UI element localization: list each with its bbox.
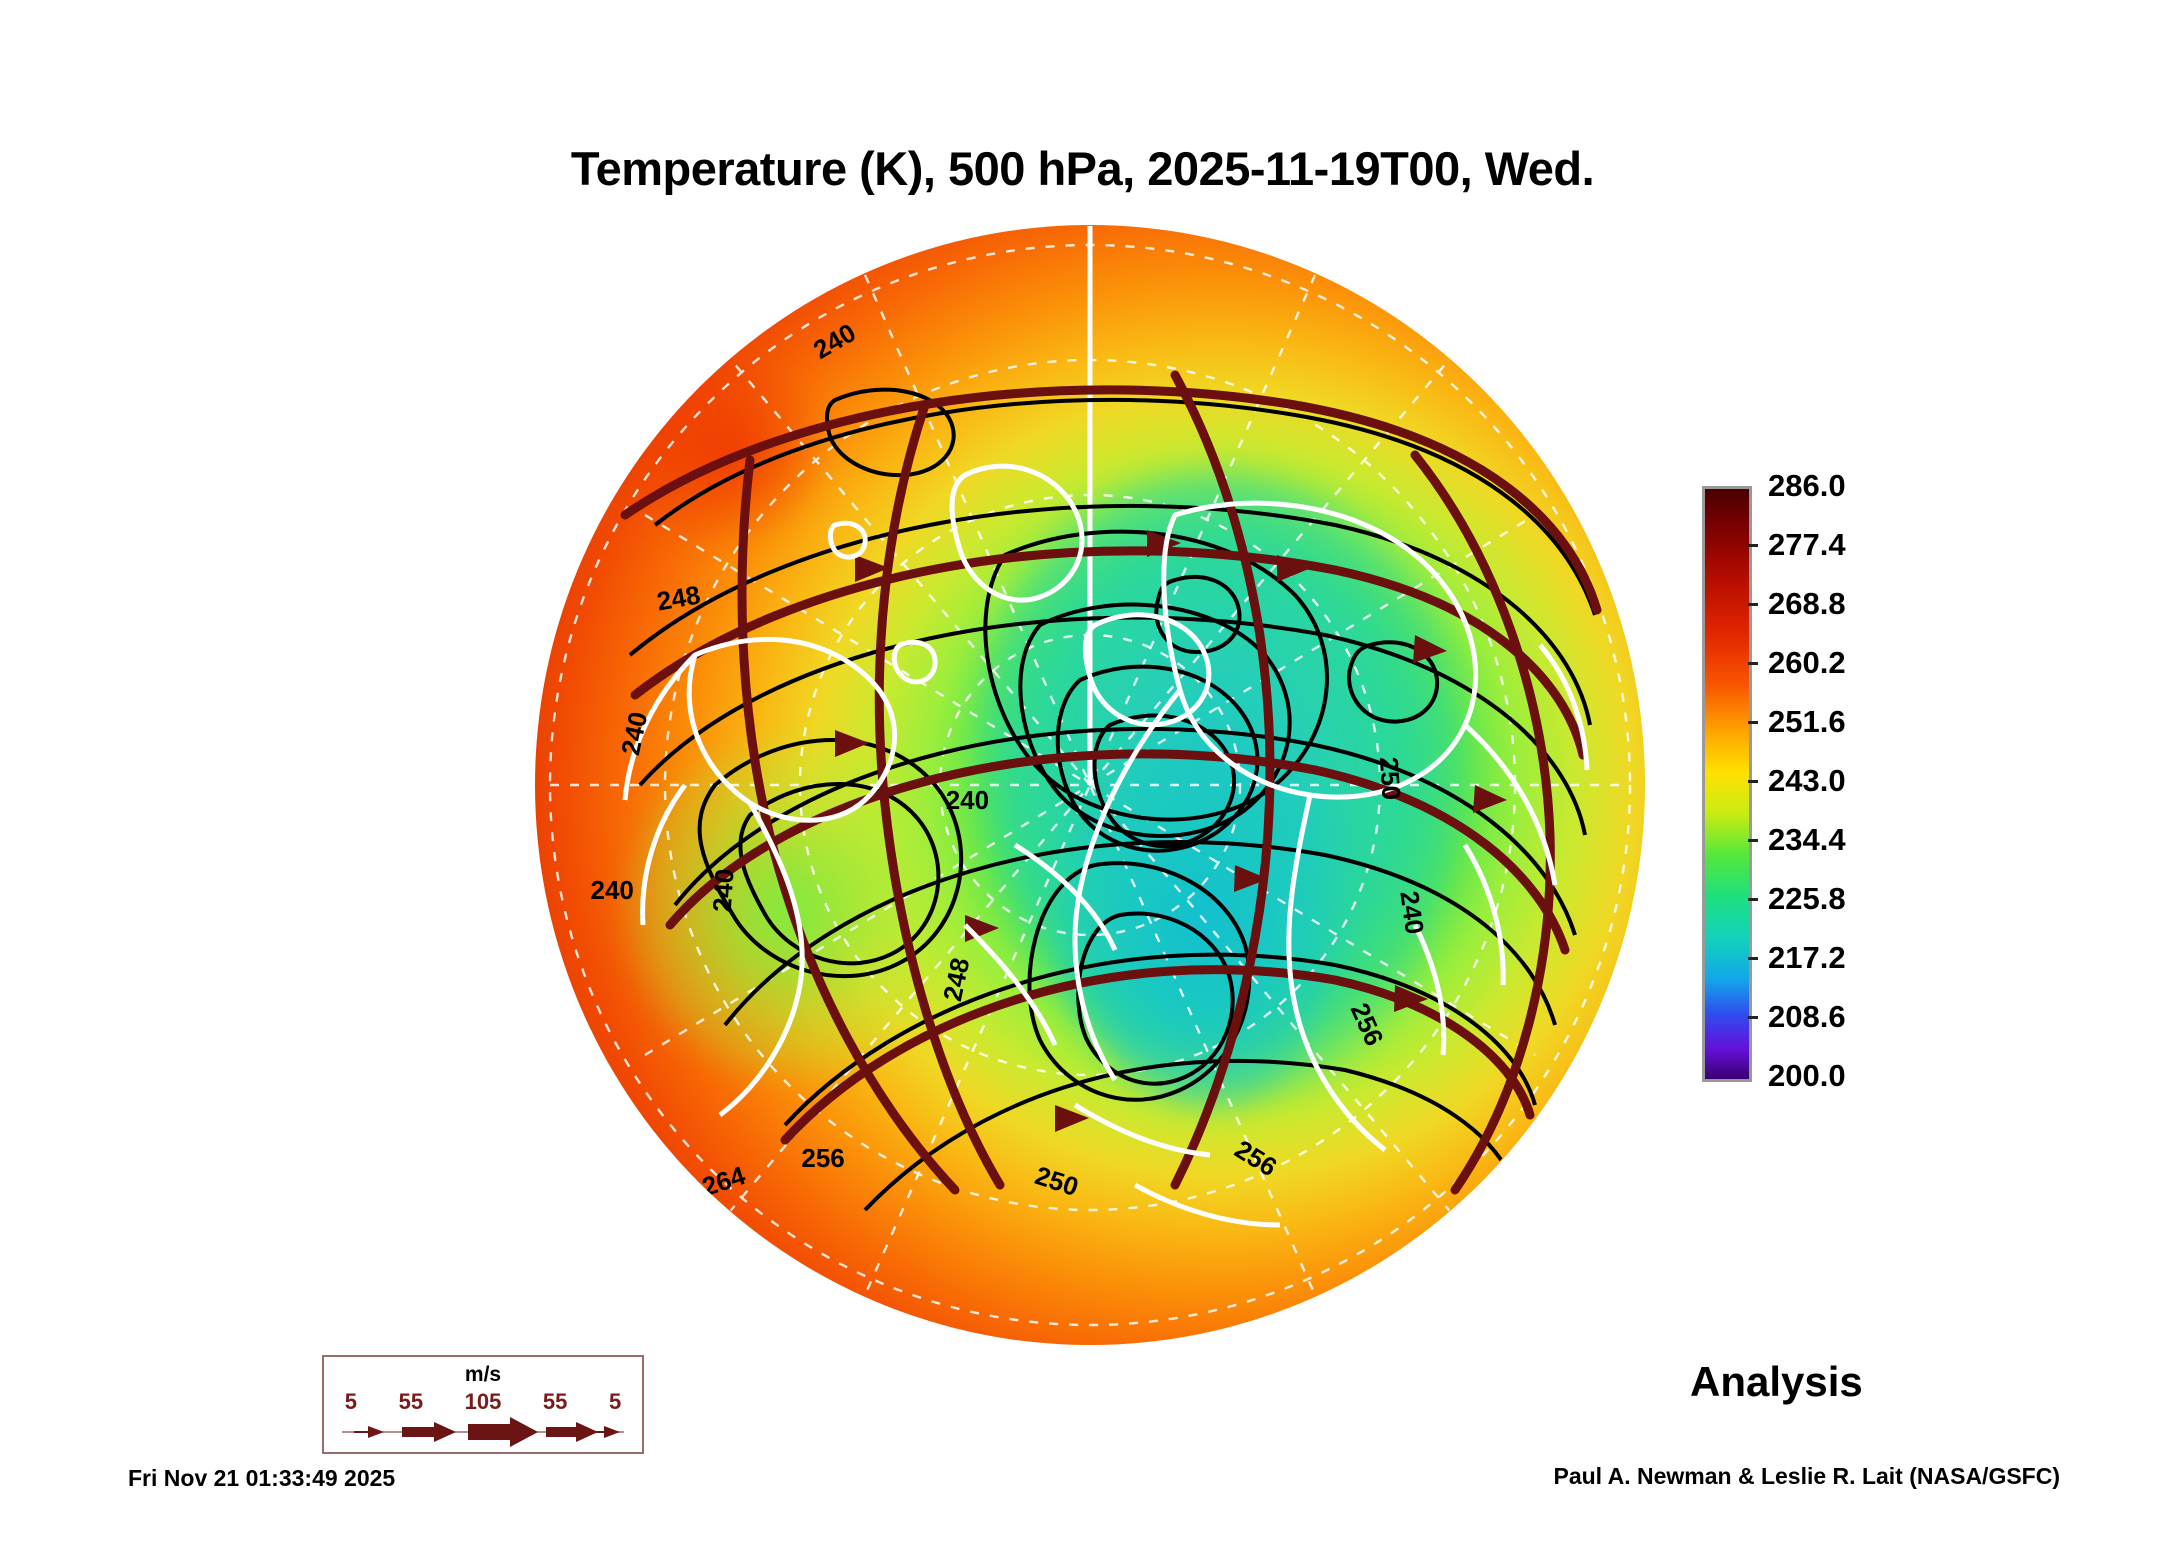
colorbar-tick-label: 208.6 <box>1768 999 1846 1035</box>
colorbar-tick-label: 260.2 <box>1768 645 1846 681</box>
colorbar-gradient <box>1702 486 1752 1082</box>
contour-label-240-centre: 240 <box>946 785 989 816</box>
author-credit: Paul A. Newman & Leslie R. Lait (NASA/GS… <box>1553 1463 2060 1490</box>
colorbar-tick-label: 251.6 <box>1768 704 1846 740</box>
colorbar-tick <box>1748 662 1758 665</box>
page-title: Temperature (K), 500 hPa, 2025-11-19T00,… <box>0 141 2165 196</box>
colorbar-tick <box>1748 544 1758 547</box>
map-disk: 264 264 250 240 264 240 248 240 250 248 … <box>535 225 1645 1345</box>
contour-label-256-bottom: 256 <box>801 1143 844 1174</box>
wind-value-label: 55 <box>399 1389 423 1415</box>
colorbar-tick-label: 243.0 <box>1768 763 1846 799</box>
wind-unit-label: m/s <box>324 1363 642 1387</box>
polar-temperature-map: 264 264 250 240 264 240 248 240 250 248 … <box>535 225 1645 1345</box>
wind-arrow-glyphs <box>324 1415 642 1449</box>
analysis-label: Analysis <box>1690 1358 1863 1406</box>
wind-value-label: 5 <box>609 1389 621 1415</box>
colorbar-tick-label: 200.0 <box>1768 1058 1846 1094</box>
colorbar-tick-label: 277.4 <box>1768 527 1846 563</box>
wind-value-labels: 555105555 <box>324 1389 642 1415</box>
colorbar-tick-label: 217.2 <box>1768 940 1846 976</box>
colorbar-tick-label: 268.8 <box>1768 586 1846 622</box>
wind-value-label: 55 <box>543 1389 567 1415</box>
wind-value-label: 105 <box>465 1389 502 1415</box>
colorbar-tick <box>1748 1016 1758 1019</box>
colorbar-tick <box>1748 839 1758 842</box>
contour-label-264-top: 264 <box>724 225 769 228</box>
colorbar-tick <box>1748 721 1758 724</box>
wind-value-label: 5 <box>345 1389 357 1415</box>
colorbar-tick-label: 225.8 <box>1768 881 1846 917</box>
colorbar-tick <box>1748 603 1758 606</box>
contour-label-250-lowerleft: 240 <box>706 867 740 912</box>
colorbar-tick <box>1748 957 1758 960</box>
colorbar-tick-label: 286.0 <box>1768 468 1846 504</box>
colorbar-tick-label: 234.4 <box>1768 822 1846 858</box>
contour-label-240-right: 240 <box>1393 889 1430 936</box>
colorbar: 286.0277.4268.8260.2251.6243.0234.4225.8… <box>1702 486 2122 1086</box>
colorbar-tick <box>1748 780 1758 783</box>
wind-speed-legend: m/s 555105555 <box>322 1355 644 1454</box>
colorbar-tick <box>1748 898 1758 901</box>
contour-label-250-right: 250 <box>1372 755 1406 800</box>
contour-label-240-left2: 240 <box>591 875 634 906</box>
generation-timestamp: Fri Nov 21 01:33:49 2025 <box>128 1465 395 1492</box>
